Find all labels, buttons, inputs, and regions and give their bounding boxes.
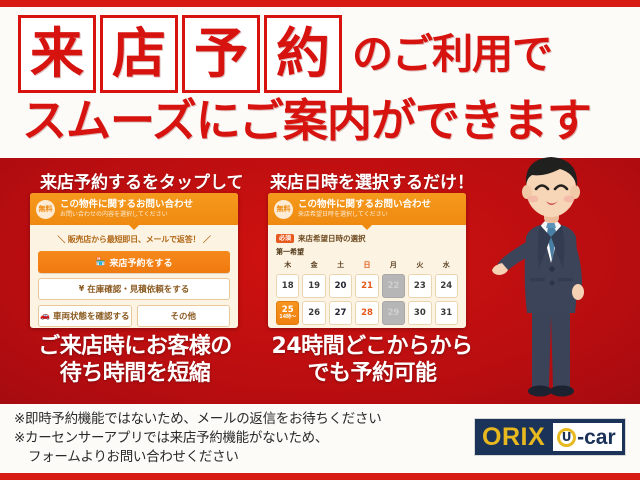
ucar-car-text: -car <box>577 427 616 448</box>
mockup-vehicle-condition-button[interactable]: 🚗 車両状態を確認する <box>38 305 132 327</box>
calendar-section-label-row: 必須 来店希望日時の選択 <box>276 233 458 244</box>
calendar-day-disabled: 22 <box>382 274 405 298</box>
calendar-day[interactable]: 27 <box>329 301 352 325</box>
weekday-sat: 土 <box>329 260 352 271</box>
calendar-day[interactable]: 26 <box>302 301 325 325</box>
storefront-icon: 🏪 <box>96 258 106 266</box>
headline-tail: のご利用で <box>352 34 552 75</box>
top-red-rule <box>0 0 640 7</box>
calendar-day[interactable]: 23 <box>408 274 431 298</box>
boxed-kanji-4: 約 <box>264 15 342 93</box>
required-badge: 必須 <box>276 234 294 243</box>
boxed-kanji-group: 来 店 予 約 <box>18 15 342 93</box>
orix-wordmark: ORIX <box>482 425 545 450</box>
mockup-stock-quote-button[interactable]: ¥ 在庫確認・見積依頼をする <box>38 278 230 300</box>
weekday-wed: 水 <box>435 260 458 271</box>
right-benefit-line2: でも予約可能 <box>262 361 482 388</box>
salesman-illustration <box>492 145 612 407</box>
footer-note-3: フォームよりお問い合わせください <box>14 448 464 467</box>
calendar-week-row: 25 14時〜 26 27 28 29 30 31 <box>276 301 458 325</box>
free-badge: 無料 <box>36 200 55 219</box>
mockup-reserve-visit-label: 来店予約をする <box>109 256 172 269</box>
calendar-body: 必須 来店希望日時の選択 第一希望 木 金 土 日 月 火 水 18 19 20 <box>268 225 466 328</box>
headline-secondary: スムーズにご案内ができます <box>22 95 622 147</box>
calendar-day[interactable]: 20 <box>329 274 352 298</box>
calendar-day[interactable]: 21 <box>355 274 378 298</box>
bottom-red-rule <box>0 473 640 480</box>
weekday-thu: 木 <box>276 260 299 271</box>
calendar-week-row: 18 19 20 21 22 23 24 <box>276 274 458 298</box>
footer-notes: ※即時予約機能ではないため、メールの返信をお待ちください ※カーセンサーアプリで… <box>14 410 464 467</box>
mockup-reserve-visit-button[interactable]: 🏪 来店予約をする <box>38 251 230 273</box>
mockup-other-button[interactable]: その他 <box>137 305 231 327</box>
weekday-sun: 日 <box>355 260 378 271</box>
weekday-mon: 月 <box>382 260 405 271</box>
ucar-badge: U -car <box>552 422 623 452</box>
calendar-day-number: 25 <box>282 306 294 315</box>
footer-note-1: ※即時予約機能ではないため、メールの返信をお待ちください <box>14 410 464 429</box>
promotional-banner: 来 店 予 約 のご利用で スムーズにご案内ができます 来店予約するをタップして… <box>0 0 640 480</box>
free-badge: 無料 <box>274 200 293 219</box>
weekday-tue: 火 <box>408 260 431 271</box>
calendar-day[interactable]: 31 <box>435 301 458 325</box>
mockup-other-label: その他 <box>170 310 196 322</box>
calendar-section-label: 来店希望日時の選択 <box>298 233 366 244</box>
calendar-day[interactable]: 19 <box>302 274 325 298</box>
header-notch <box>129 225 139 230</box>
boxed-kanji-3: 予 <box>182 15 260 93</box>
banner-footer: ※即時予約機能ではないため、メールの返信をお待ちください ※カーセンサーアプリで… <box>0 404 640 473</box>
calendar-mockup: 無料 この物件に関するお問い合わせ 来店希望日時を選択してください 必須 来店希… <box>268 193 466 328</box>
mockup-vehicle-condition-label: 車両状態を確認する <box>53 310 130 322</box>
headline-primary: 来 店 予 約 のご利用で <box>18 15 622 93</box>
mockup-stock-quote-label: 在庫確認・見積依頼をする <box>87 283 189 295</box>
calendar-day-selected[interactable]: 25 14時〜 <box>276 301 299 325</box>
calendar-weekday-row: 木 金 土 日 月 火 水 <box>276 260 458 271</box>
orix-ucar-logo: ORIX U -car <box>474 418 626 456</box>
mockup-secondary-button-row: 🚗 車両状態を確認する その他 <box>38 305 230 327</box>
right-benefit-text: 24時間どこからから でも予約可能 <box>262 334 482 388</box>
footer-note-2: ※カーセンサーアプリでは来店予約機能がないため、 <box>14 429 464 448</box>
mockup-lead-text: ＼ 販売店から最短即日、メールで返答！ ／ <box>38 234 230 245</box>
mockup-header-title: この物件に関するお問い合わせ <box>60 199 193 210</box>
inquiry-form-mockup: 無料 この物件に関するお問い合わせ お問い合わせの内容を選択してください ＼ 販… <box>30 193 238 328</box>
left-benefit-line2: 待ち時間を短縮 <box>20 361 250 388</box>
calendar-day[interactable]: 30 <box>408 301 431 325</box>
mockup-body: ＼ 販売店から最短即日、メールで返答！ ／ 🏪 来店予約をする ¥ 在庫確認・見… <box>30 225 238 328</box>
car-icon: 🚗 <box>40 312 50 320</box>
mockup-header-subtitle: お問い合わせの内容を選択してください <box>60 211 193 219</box>
right-panel-title: 来店日時を選択するだけ！ <box>270 168 474 193</box>
boxed-kanji-1: 来 <box>18 15 96 93</box>
ucar-u-circle: U <box>557 428 576 447</box>
calendar-day[interactable]: 18 <box>276 274 299 298</box>
calendar-header-subtitle: 来店希望日時を選択してください <box>298 211 431 219</box>
calendar-day-time: 14時〜 <box>279 315 296 320</box>
right-benefit-line1: 24時間どこからから <box>262 334 482 361</box>
boxed-kanji-2: 店 <box>100 15 178 93</box>
calendar-choice-label: 第一希望 <box>276 247 458 257</box>
calendar-header-bar: 無料 この物件に関するお問い合わせ 来店希望日時を選択してください <box>268 193 466 225</box>
weekday-fri: 金 <box>302 260 325 271</box>
calendar-day[interactable]: 28 <box>355 301 378 325</box>
calendar-day[interactable]: 24 <box>435 274 458 298</box>
banner-header: 来 店 予 約 のご利用で スムーズにご案内ができます <box>0 7 640 158</box>
left-panel-title: 来店予約するをタップして <box>40 168 244 193</box>
left-benefit-text: ご来店時にお客様の 待ち時間を短縮 <box>20 334 250 388</box>
calendar-header-title: この物件に関するお問い合わせ <box>298 199 431 210</box>
left-benefit-line1: ご来店時にお客様の <box>20 334 250 361</box>
calendar-day-disabled: 29 <box>382 301 405 325</box>
header-notch <box>362 225 372 230</box>
yen-icon: ¥ <box>79 285 85 293</box>
mockup-header-bar: 無料 この物件に関するお問い合わせ お問い合わせの内容を選択してください <box>30 193 238 225</box>
